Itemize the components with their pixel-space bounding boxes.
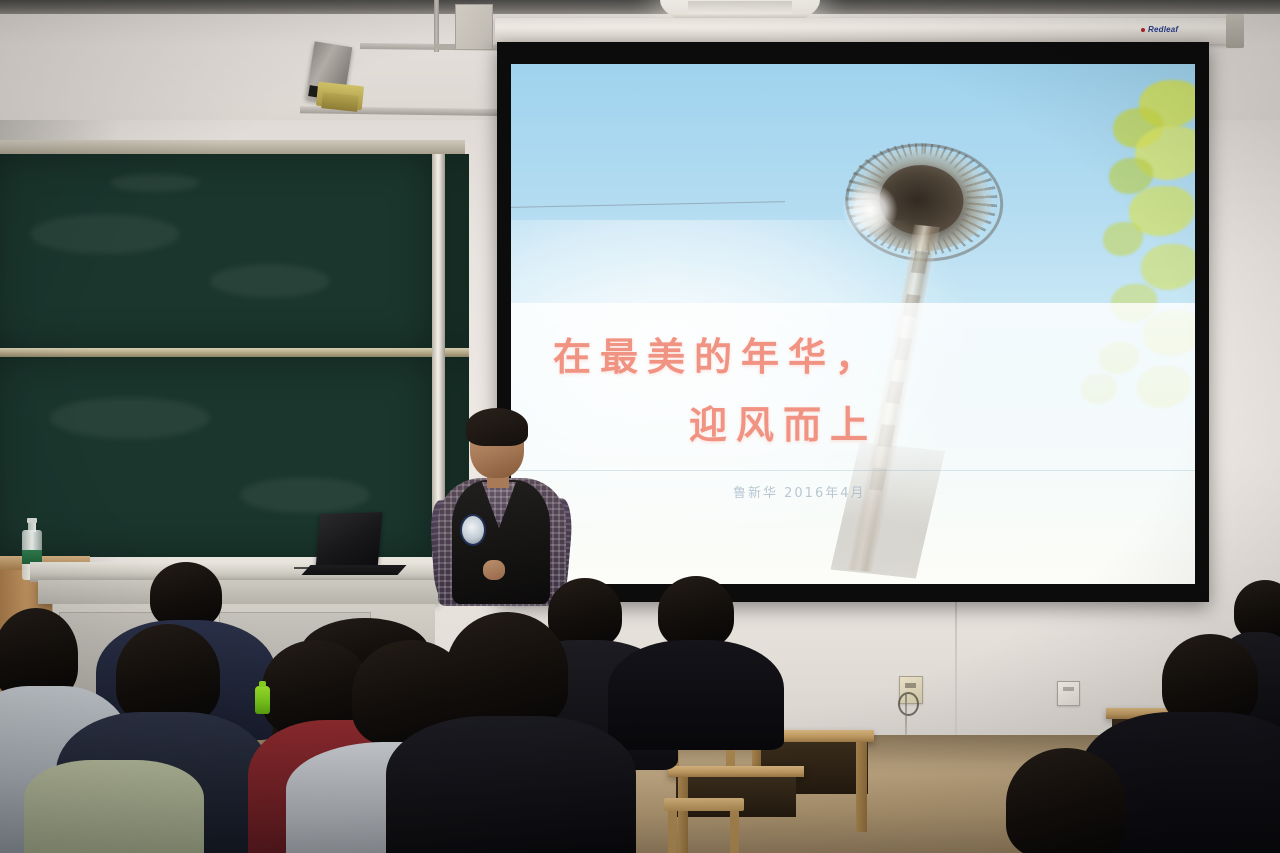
audience-head <box>116 624 220 724</box>
green-drink-bottle[interactable] <box>255 686 270 714</box>
slide-signature: 鲁新华 2016年4月 <box>733 482 866 501</box>
desk-leg <box>856 742 867 832</box>
student-desk-right-front <box>668 766 804 777</box>
audience-head <box>150 562 222 628</box>
chalkboard-panel-upper-left <box>0 154 432 350</box>
presenter-hand <box>483 560 505 580</box>
brand-logo-dot-icon <box>1141 28 1145 32</box>
presenter-hair <box>466 408 528 446</box>
chair-leg <box>668 811 677 853</box>
desk-leg <box>678 777 688 853</box>
bottle-cap <box>27 518 37 523</box>
laptop-keyboard-base <box>301 565 406 575</box>
ceiling-light-diffuser <box>688 1 792 14</box>
slide-title-line-1: 在最美的年华， <box>553 326 882 381</box>
junction-box <box>455 4 493 50</box>
chalkboard-panel-upper-right <box>445 154 469 350</box>
chalkboard-rail-mid <box>0 348 432 357</box>
student-chair-seat[interactable] <box>664 798 744 811</box>
projector-screen-border: 在最美的年华， 迎风而上 鲁新华 2016年4月 <box>497 42 1209 602</box>
audience-head <box>446 612 568 728</box>
audience-body <box>386 716 636 853</box>
light-switch[interactable] <box>1057 681 1080 706</box>
chair-leg <box>730 811 739 853</box>
ceiling-dark-strip <box>0 0 1280 14</box>
lecture-hall-scene: Redleaf <box>0 0 1280 853</box>
audience-head <box>658 576 734 648</box>
slide-horizon-line <box>511 470 1195 471</box>
chalkboard-assembly <box>0 140 465 560</box>
screen-housing-end-cap <box>1226 14 1244 48</box>
chalkboard-frame-top <box>0 140 465 154</box>
projector-screen-housing <box>495 18 1240 44</box>
audience-head <box>548 578 622 648</box>
projector-screen-surface: 在最美的年华， 迎风而上 鲁新华 2016年4月 <box>511 64 1195 584</box>
audience-body <box>24 760 204 853</box>
audience-body <box>608 640 784 750</box>
outlet-cable-loop <box>898 692 919 716</box>
laptop-screen-lid <box>315 512 382 569</box>
screen-brand-logo: Redleaf <box>1148 25 1178 34</box>
chalkboard-rail-mid-right <box>445 348 469 357</box>
chalkboard-divider-rail <box>432 154 445 558</box>
presenter-name-badge <box>462 516 484 544</box>
slide-title-line-2: 迎风而上 <box>689 394 877 449</box>
teacher-console-body <box>38 580 440 604</box>
audience-head <box>1006 748 1126 853</box>
